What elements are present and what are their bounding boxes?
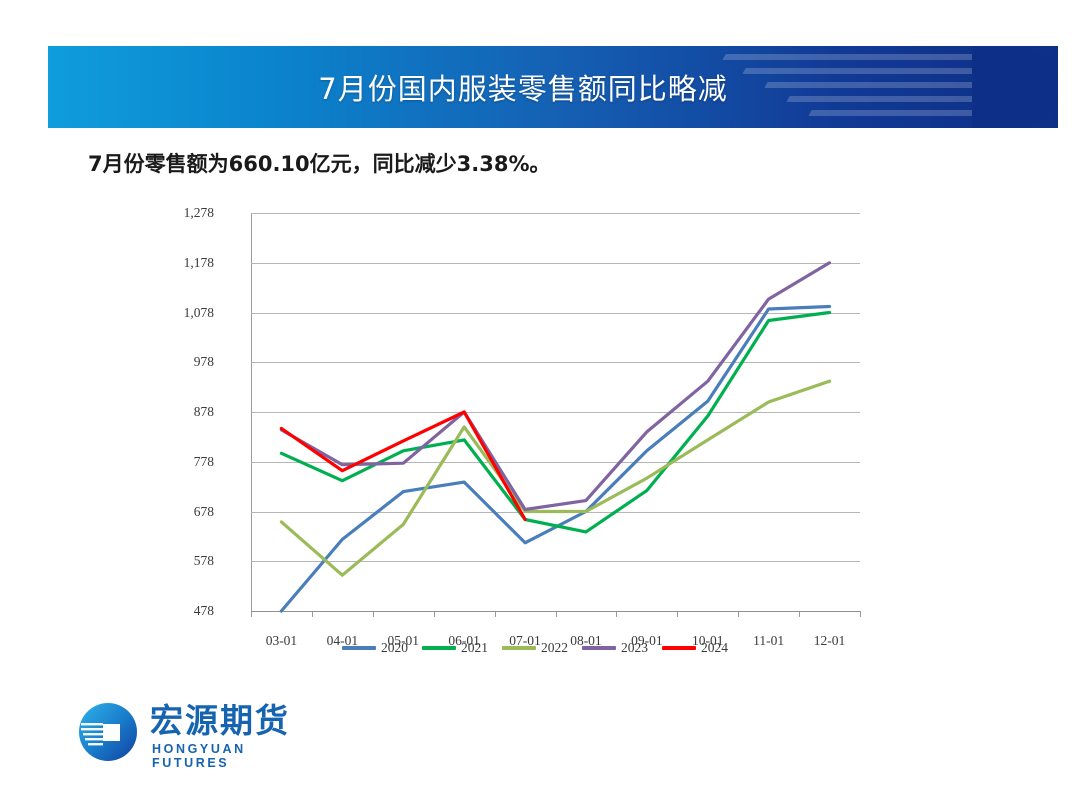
y-axis-tick-label: 1,178 [184, 255, 214, 271]
page-title: 7月份国内服装零售额同比略减 [48, 46, 1058, 128]
x-axis-tickmark [434, 611, 435, 617]
legend-swatch-2022 [502, 646, 536, 650]
legend-swatch-2023 [582, 646, 616, 650]
series-line-2021 [281, 313, 829, 532]
x-axis-tickmark [738, 611, 739, 617]
company-logo: 宏源期货 HONGYUAN FUTURES [78, 700, 328, 766]
x-axis-tickmark [251, 611, 252, 617]
title-banner: 7月份国内服装零售额同比略减 [48, 46, 1058, 128]
x-axis-tickmark [556, 611, 557, 617]
chart-legend: 20202021202220232024 [180, 640, 890, 656]
series-line-2023 [281, 263, 829, 510]
series-line-2024 [281, 412, 525, 520]
logo-chinese-name: 宏源期货 [150, 702, 290, 740]
y-axis-tick-label: 778 [194, 454, 214, 470]
chart-plot-area: 4785786787788789781,0781,1781,278 03-010… [251, 213, 860, 611]
legend-item-2023[interactable]: 2023 [582, 640, 648, 656]
legend-label-2022: 2022 [541, 640, 568, 656]
legend-item-2022[interactable]: 2022 [502, 640, 568, 656]
legend-swatch-2024 [662, 646, 696, 650]
legend-label-2023: 2023 [621, 640, 648, 656]
legend-label-2020: 2020 [381, 640, 408, 656]
legend-label-2021: 2021 [461, 640, 488, 656]
logo-english-name: HONGYUAN FUTURES [152, 742, 328, 770]
legend-item-2020[interactable]: 2020 [342, 640, 408, 656]
x-axis-tickmark [860, 611, 861, 617]
slide: 7月份国内服装零售额同比略减 7月份零售额为660.10亿元，同比减少3.38%… [0, 0, 1080, 810]
series-line-2022 [281, 381, 829, 575]
x-axis-tickmark [799, 611, 800, 617]
legend-item-2021[interactable]: 2021 [422, 640, 488, 656]
y-axis-tick-label: 578 [194, 553, 214, 569]
y-axis-tick-label: 478 [194, 603, 214, 619]
x-axis-tickmark [373, 611, 374, 617]
y-axis-tick-label: 678 [194, 504, 214, 520]
x-axis-tickmark [616, 611, 617, 617]
x-axis-tickmark [677, 611, 678, 617]
y-axis-tick-label: 1,278 [184, 205, 214, 221]
hongyuan-logo-mark-icon [78, 702, 138, 762]
legend-item-2024[interactable]: 2024 [662, 640, 728, 656]
x-axis-tickmark [495, 611, 496, 617]
y-axis-tick-label: 978 [194, 354, 214, 370]
legend-swatch-2021 [422, 646, 456, 650]
y-axis-tick-label: 1,078 [184, 305, 214, 321]
retail-sales-line-chart: 4785786787788789781,0781,1781,278 03-010… [180, 196, 890, 666]
subtitle-text: 7月份零售额为660.10亿元，同比减少3.38%。 [88, 148, 551, 178]
legend-label-2024: 2024 [701, 640, 728, 656]
x-axis-tickmark [312, 611, 313, 617]
chart-series-lines [251, 213, 860, 611]
legend-swatch-2020 [342, 646, 376, 650]
y-axis-tick-label: 878 [194, 404, 214, 420]
